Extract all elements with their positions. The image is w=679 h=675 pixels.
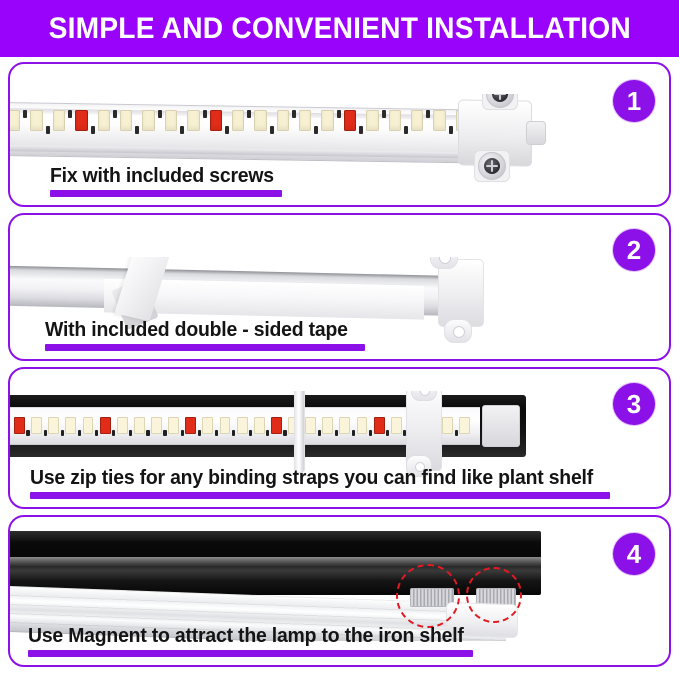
step-badge-1: 1 (613, 80, 655, 122)
step-badge-3: 3 (613, 383, 655, 425)
black-tube-icon (8, 531, 541, 595)
step-panel-4: 4 Use Magnent to attract the lamp to the… (8, 515, 671, 667)
led-chips-row-3 (14, 417, 470, 436)
header-banner: SIMPLE AND CONVENIENT INSTALLATION (0, 0, 679, 57)
highlight-circle-2 (466, 567, 522, 623)
step-4-caption-block: Use Magnent to attract the lamp to the i… (10, 625, 671, 657)
step-panel-1: 1 Fix with included screws (8, 62, 671, 207)
step-panel-3: 3 Use zip ties for any binding straps yo… (8, 367, 671, 509)
step-3-caption-block: Use zip ties for any binding straps you … (10, 467, 671, 499)
strip-end-cap-icon (526, 121, 546, 145)
step-4-caption: Use Magnent to attract the lamp to the i… (28, 625, 464, 647)
step-2-caption: With included double - sided tape (45, 319, 348, 341)
step-3-caption: Use zip ties for any binding straps you … (30, 467, 593, 489)
zip-tie-icon (294, 391, 305, 473)
step-3-illustration (8, 391, 669, 477)
step-1-caption-block: Fix with included screws (10, 165, 671, 197)
step-4-underline (28, 650, 473, 657)
step-2-underline (45, 344, 365, 351)
step-badge-2: 2 (613, 229, 655, 271)
step-2-caption-block: With included double - sided tape (10, 319, 671, 351)
step-3-underline (30, 492, 610, 499)
mounting-clip-icon (438, 259, 484, 327)
step-1-caption: Fix with included screws (50, 165, 274, 187)
highlight-circle-1 (396, 564, 460, 628)
step-panel-2: 2 With included double - sided tape (8, 213, 671, 361)
step-1-underline (50, 190, 282, 197)
led-chips-row (8, 110, 468, 134)
strip-end-cap-icon-3 (482, 405, 520, 447)
installation-infographic: SIMPLE AND CONVENIENT INSTALLATION (0, 0, 679, 675)
step-badge-4: 4 (613, 533, 655, 575)
page-title: SIMPLE AND CONVENIENT INSTALLATION (48, 12, 630, 46)
